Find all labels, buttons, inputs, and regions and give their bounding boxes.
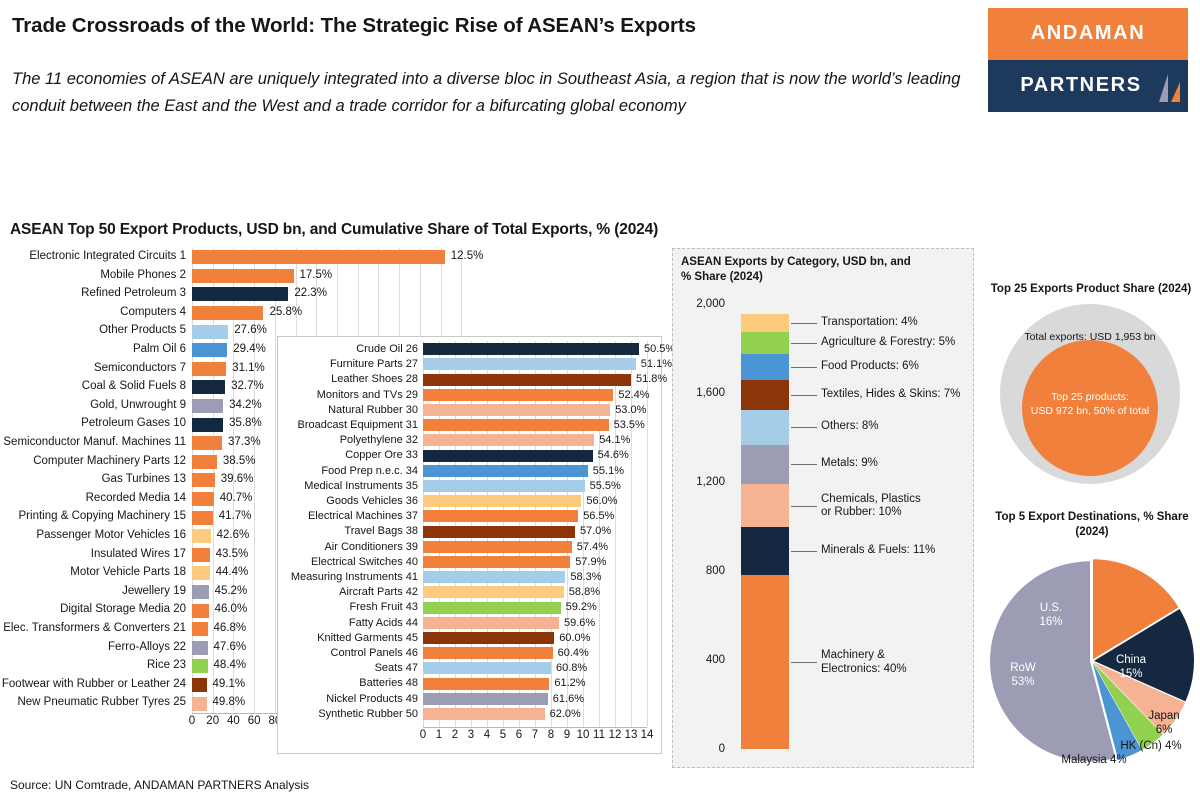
- pie-slice-label: HK (Cn) 4%: [1106, 739, 1196, 753]
- stacked-segment-label: Chemicals, Plasticsor Rubber: 10%: [821, 493, 921, 520]
- bar-category-label: Seats 47: [278, 662, 418, 674]
- table-row: Control Panels 4660.4%: [278, 646, 663, 661]
- bar-segment: [423, 556, 570, 568]
- bar-category-label: Monitors and TVs 29: [278, 389, 418, 401]
- table-row: Polyethylene 3254.1%: [278, 433, 663, 448]
- bar-category-label: Semiconductor Manuf. Machines 11: [0, 436, 186, 448]
- cumulative-share-label: 57.9%: [575, 556, 606, 568]
- bar-segment: [192, 325, 228, 339]
- x-axis-tick: 8: [548, 729, 554, 741]
- bar-segment: [423, 343, 639, 355]
- stacked-chart-y-axis: 04008001,2001,6002,000: [677, 249, 725, 767]
- bar-segment: [423, 465, 588, 477]
- table-row: Synthetic Rubber 5062.0%: [278, 707, 663, 722]
- x-axis-tick: 14: [641, 729, 654, 741]
- x-axis-tick: 7: [532, 729, 538, 741]
- bar-segment: [192, 641, 208, 655]
- cumulative-share-label: 54.1%: [599, 434, 630, 446]
- bar-category-label: Furniture Parts 27: [278, 358, 418, 370]
- logo-bottom-block: PARTNERS: [988, 60, 1188, 112]
- bar-segment: [192, 362, 226, 376]
- cumulative-share-label: 60.8%: [556, 662, 587, 674]
- bar-segment: [192, 380, 225, 394]
- table-row: Measuring Instruments 4158.3%: [278, 570, 663, 585]
- cumulative-share-label: 56.5%: [583, 510, 614, 522]
- leader-line: [791, 551, 817, 552]
- cumulative-share-label: 61.6%: [553, 693, 584, 705]
- cumulative-share-label: 39.6%: [221, 473, 254, 485]
- bar-segment: [423, 541, 572, 553]
- bar-segment: [192, 659, 208, 673]
- table-row: Natural Rubber 3053.0%: [278, 403, 663, 418]
- bar-segment: [423, 495, 581, 507]
- bar-category-label: Broadcast Equipment 31: [278, 419, 418, 431]
- bar-category-label: Control Panels 46: [278, 647, 418, 659]
- bar-category-label: Air Conditioners 39: [278, 541, 418, 553]
- cumulative-share-label: 37.3%: [228, 436, 261, 448]
- y-axis-tick: 0: [719, 743, 725, 755]
- bar-category-label: Recorded Media 14: [0, 492, 186, 504]
- cumulative-share-label: 53.0%: [615, 404, 646, 416]
- cumulative-share-label: 58.3%: [570, 571, 601, 583]
- table-row: Electronic Integrated Circuits 112.5%: [0, 248, 660, 267]
- logo-top-block: ANDAMAN: [988, 8, 1188, 60]
- bar-segment: [423, 358, 636, 370]
- logo-andaman-text: ANDAMAN: [988, 22, 1188, 45]
- x-axis-tick: 2: [452, 729, 458, 741]
- pie-slice-label: RoW53%: [992, 661, 1054, 689]
- bar-segment: [423, 450, 593, 462]
- destinations-pie-chart: U.S.16%China15%Japan6%HK (Cn) 4%Malaysia…: [986, 543, 1198, 769]
- bar-segment: [192, 436, 222, 450]
- cumulative-share-label: 61.2%: [554, 677, 585, 689]
- pie-slice-label: China15%: [1096, 653, 1166, 681]
- bar-category-label: Motor Vehicle Parts 18: [0, 566, 186, 578]
- top25-share-title: Top 25 Exports Product Share (2024): [988, 283, 1194, 295]
- bar-segment: [423, 526, 575, 538]
- table-row: Seats 4760.8%: [278, 661, 663, 676]
- company-logo: ANDAMAN PARTNERS: [988, 8, 1188, 112]
- main-chart-title: ASEAN Top 50 Export Products, USD bn, an…: [10, 221, 658, 239]
- x-axis-tick: 12: [609, 729, 622, 741]
- y-axis-tick: 800: [706, 565, 725, 577]
- stacked-segment-label: Transportation: 4%: [821, 316, 918, 330]
- cumulative-share-label: 34.2%: [229, 399, 262, 411]
- bar-category-label: Gas Turbines 13: [0, 473, 186, 485]
- bar-category-label: Ferro-Alloys 22: [0, 641, 186, 653]
- bar-segment: [423, 647, 553, 659]
- bar-category-label: Petroleum Gases 10: [0, 417, 186, 429]
- bar-category-label: Measuring Instruments 41: [278, 571, 418, 583]
- bar-segment: [192, 473, 215, 487]
- table-row: Mobile Phones 217.5%: [0, 267, 660, 286]
- stacked-segment: [741, 527, 789, 575]
- cumulative-share-label: 41.7%: [219, 510, 252, 522]
- cumulative-share-label: 52.4%: [618, 389, 649, 401]
- bar-segment: [192, 287, 288, 301]
- bar-segment: [423, 419, 609, 431]
- cumulative-share-label: 49.8%: [213, 696, 246, 708]
- top25-label-line1: Top 25 products:: [992, 390, 1188, 404]
- y-axis-tick: 1,600: [696, 387, 725, 399]
- bar-segment: [423, 632, 554, 644]
- stacked-segment-label: Metals: 9%: [821, 457, 878, 471]
- inset-bar-chart: Crude Oil 2650.5%Furniture Parts 2751.1%…: [277, 336, 662, 754]
- cumulative-share-label: 60.0%: [559, 632, 590, 644]
- bar-category-label: Refined Petroleum 3: [0, 287, 186, 299]
- stacked-segment: [741, 332, 789, 354]
- cumulative-share-label: 51.1%: [641, 358, 672, 370]
- bar-segment: [192, 678, 207, 692]
- bar-category-label: Travel Bags 38: [278, 525, 418, 537]
- bar-segment: [192, 343, 227, 357]
- y-axis-tick: 400: [706, 654, 725, 666]
- bar-category-label: Elec. Transformers & Converters 21: [0, 622, 186, 634]
- leader-line: [791, 343, 817, 344]
- stacked-segment: [741, 410, 789, 445]
- table-row: Crude Oil 2650.5%: [278, 342, 663, 357]
- table-row: Aircraft Parts 4258.8%: [278, 585, 663, 600]
- table-row: Travel Bags 3857.0%: [278, 524, 663, 539]
- stacked-segment-label: Machinery &Electronics: 40%: [821, 649, 907, 676]
- bar-segment: [423, 662, 551, 674]
- cumulative-share-label: 17.5%: [300, 269, 333, 281]
- bar-segment: [192, 529, 211, 543]
- bar-category-label: Passenger Motor Vehicles 16: [0, 529, 186, 541]
- table-row: Fresh Fruit 4359.2%: [278, 600, 663, 615]
- bar-segment: [423, 404, 610, 416]
- bar-segment: [423, 510, 578, 522]
- bar-category-label: Fatty Acids 44: [278, 617, 418, 629]
- destinations-pie-title: Top 5 Export Destinations, % Share (2024…: [986, 510, 1198, 540]
- x-axis-tick: 20: [206, 715, 219, 727]
- stacked-segment: [741, 380, 789, 410]
- exports-by-category-panel: ASEAN Exports by Category, USD bn, and %…: [672, 248, 974, 768]
- bar-category-label: Computers 4: [0, 306, 186, 318]
- top25-label-line2: USD 972 bn, 50% of total: [992, 404, 1188, 418]
- bar-segment: [423, 389, 613, 401]
- cumulative-share-label: 51.8%: [636, 373, 667, 385]
- cumulative-share-label: 35.8%: [229, 417, 262, 429]
- pie-slice-label: U.S.16%: [1016, 601, 1086, 629]
- cumulative-share-label: 38.5%: [223, 455, 256, 467]
- bar-segment: [423, 586, 564, 598]
- bar-category-label: Computer Machinery Parts 12: [0, 455, 186, 467]
- bar-segment: [192, 399, 223, 413]
- bar-category-label: Footwear with Rubber or Leather 24: [0, 678, 186, 690]
- bar-category-label: Mobile Phones 2: [0, 269, 186, 281]
- bar-segment: [192, 492, 214, 506]
- bar-category-label: Natural Rubber 30: [278, 404, 418, 416]
- bar-segment: [423, 678, 549, 690]
- stacked-segment: [741, 445, 789, 484]
- cumulative-share-label: 57.4%: [577, 541, 608, 553]
- bar-segment: [423, 480, 585, 492]
- leader-line: [791, 662, 817, 663]
- stacked-segment: [741, 484, 789, 527]
- cumulative-share-label: 48.4%: [214, 659, 247, 671]
- x-axis-tick: 0: [189, 715, 195, 727]
- table-row: Air Conditioners 3957.4%: [278, 540, 663, 555]
- leader-line: [791, 464, 817, 465]
- bar-category-label: Nickel Products 49: [278, 693, 418, 705]
- cumulative-share-label: 42.6%: [217, 529, 250, 541]
- inset-chart-axis-line: [423, 727, 647, 728]
- table-row: Batteries 4861.2%: [278, 676, 663, 691]
- cumulative-share-label: 43.5%: [216, 548, 249, 560]
- bar-category-label: Fresh Fruit 43: [278, 601, 418, 613]
- x-axis-tick: 5: [500, 729, 506, 741]
- cumulative-share-label: 55.5%: [590, 480, 621, 492]
- total-exports-label: Total exports: USD 1,953 bn: [992, 331, 1188, 343]
- bar-segment: [423, 708, 545, 720]
- bar-category-label: Coal & Solid Fuels 8: [0, 380, 186, 392]
- x-axis-tick: 1: [436, 729, 442, 741]
- leader-line: [791, 367, 817, 368]
- table-row: Fatty Acids 4459.6%: [278, 616, 663, 631]
- cumulative-share-label: 12.5%: [451, 250, 484, 262]
- cumulative-share-label: 40.7%: [220, 492, 253, 504]
- x-axis-tick: 60: [248, 715, 261, 727]
- cumulative-share-label: 44.4%: [216, 566, 249, 578]
- bar-segment: [192, 604, 209, 618]
- bar-category-label: Goods Vehicles 36: [278, 495, 418, 507]
- bar-segment: [423, 602, 561, 614]
- cumulative-share-label: 49.1%: [213, 678, 246, 690]
- bar-category-label: Electrical Machines 37: [278, 510, 418, 522]
- x-axis-tick: 4: [484, 729, 490, 741]
- cumulative-share-label: 29.4%: [233, 343, 266, 355]
- pie-slice-label: Japan6%: [1134, 709, 1194, 737]
- bar-category-label: Synthetic Rubber 50: [278, 708, 418, 720]
- stacked-segment-label: Textiles, Hides & Skins: 7%: [821, 388, 960, 402]
- y-axis-tick: 1,200: [696, 476, 725, 488]
- bar-category-label: Copper Ore 33: [278, 449, 418, 461]
- x-axis-tick: 0: [420, 729, 426, 741]
- x-axis-tick: 6: [516, 729, 522, 741]
- bar-segment: [192, 697, 207, 711]
- bar-segment: [192, 269, 294, 283]
- cumulative-share-label: 31.1%: [232, 362, 265, 374]
- cumulative-share-label: 46.8%: [214, 622, 247, 634]
- bar-segment: [423, 374, 631, 386]
- bar-segment: [192, 418, 223, 432]
- table-row: Furniture Parts 2751.1%: [278, 357, 663, 372]
- cumulative-share-label: 53.5%: [614, 419, 645, 431]
- bar-category-label: Other Products 5: [0, 324, 186, 336]
- sail-icon: [1158, 72, 1182, 108]
- table-row: Monitors and TVs 2952.4%: [278, 388, 663, 403]
- top25-products-label: Top 25 products: USD 972 bn, 50% of tota…: [992, 390, 1188, 418]
- page-title: Trade Crossroads of the World: The Strat…: [12, 14, 972, 38]
- stacked-segment-label: Others: 8%: [821, 420, 879, 434]
- stacked-column: [741, 314, 789, 749]
- bar-category-label: Electrical Switches 40: [278, 556, 418, 568]
- bar-segment: [192, 306, 263, 320]
- bar-segment: [423, 617, 559, 629]
- leader-line: [791, 395, 817, 396]
- table-row: Electrical Machines 3756.5%: [278, 509, 663, 524]
- cumulative-share-label: 59.6%: [564, 617, 595, 629]
- bar-category-label: Rice 23: [0, 659, 186, 671]
- cumulative-share-label: 22.3%: [294, 287, 327, 299]
- table-row: Computers 425.8%: [0, 304, 660, 323]
- source-note: Source: UN Comtrade, ANDAMAN PARTNERS An…: [10, 778, 309, 792]
- bar-segment: [192, 566, 210, 580]
- bar-category-label: Palm Oil 6: [0, 343, 186, 355]
- x-axis-tick: 10: [577, 729, 590, 741]
- bar-segment: [423, 693, 548, 705]
- bar-category-label: Digital Storage Media 20: [0, 603, 186, 615]
- table-row: Refined Petroleum 322.3%: [0, 285, 660, 304]
- bar-category-label: Medical Instruments 35: [278, 480, 418, 492]
- table-row: Goods Vehicles 3656.0%: [278, 494, 663, 509]
- page-subtitle: The 11 economies of ASEAN are uniquely i…: [12, 66, 972, 120]
- cumulative-share-label: 27.6%: [234, 324, 267, 336]
- stacked-segment-label: Food Products: 6%: [821, 360, 919, 374]
- cumulative-share-label: 25.8%: [269, 306, 302, 318]
- cumulative-share-label: 47.6%: [214, 641, 247, 653]
- stacked-segment: [741, 575, 789, 749]
- table-row: Knitted Garments 4560.0%: [278, 631, 663, 646]
- x-axis-tick: 13: [625, 729, 638, 741]
- stacked-segment: [741, 314, 789, 331]
- bar-segment: [192, 585, 209, 599]
- cumulative-share-label: 62.0%: [550, 708, 581, 720]
- stacked-segment-label: Minerals & Fuels: 11%: [821, 544, 935, 558]
- bar-segment: [192, 455, 217, 469]
- cumulative-share-label: 57.0%: [580, 525, 611, 537]
- table-row: Nickel Products 4961.6%: [278, 692, 663, 707]
- table-row: Copper Ore 3354.6%: [278, 448, 663, 463]
- leader-line: [791, 506, 817, 507]
- bar-segment: [192, 511, 213, 525]
- y-axis-tick: 2,000: [696, 298, 725, 310]
- cumulative-share-label: 54.6%: [598, 449, 629, 461]
- bar-segment: [423, 571, 565, 583]
- bar-category-label: Electronic Integrated Circuits 1: [0, 250, 186, 262]
- pie-slice-label: Malaysia 4%: [1046, 753, 1142, 767]
- x-axis-tick: 40: [227, 715, 240, 727]
- bar-segment: [423, 434, 594, 446]
- bar-category-label: Batteries 48: [278, 677, 418, 689]
- inset-chart-x-axis: 01234567891011121314: [423, 729, 663, 747]
- bar-category-label: New Pneumatic Rubber Tyres 25: [0, 696, 186, 708]
- bar-category-label: Crude Oil 26: [278, 343, 418, 355]
- bar-category-label: Semiconductors 7: [0, 362, 186, 374]
- cumulative-share-label: 59.2%: [566, 601, 597, 613]
- cumulative-share-label: 45.2%: [215, 585, 248, 597]
- x-axis-tick: 11: [593, 729, 605, 741]
- bar-category-label: Gold, Unwrought 9: [0, 399, 186, 411]
- bar-category-label: Knitted Garments 45: [278, 632, 418, 644]
- bar-category-label: Polyethylene 32: [278, 434, 418, 446]
- bar-category-label: Printing & Copying Machinery 15: [0, 510, 186, 522]
- table-row: Electrical Switches 4057.9%: [278, 555, 663, 570]
- table-row: Medical Instruments 3555.5%: [278, 479, 663, 494]
- leader-line: [791, 427, 817, 428]
- table-row: Broadcast Equipment 3153.5%: [278, 418, 663, 433]
- cumulative-share-label: 56.0%: [586, 495, 617, 507]
- table-row: Leather Shoes 2851.8%: [278, 372, 663, 387]
- leader-line: [791, 323, 817, 324]
- table-row: Food Prep n.e.c. 3455.1%: [278, 464, 663, 479]
- bar-category-label: Leather Shoes 28: [278, 373, 418, 385]
- x-axis-tick: 9: [564, 729, 570, 741]
- bar-category-label: Food Prep n.e.c. 34: [278, 465, 418, 477]
- x-axis-tick: 3: [468, 729, 474, 741]
- stacked-segment-label: Agriculture & Forestry: 5%: [821, 336, 955, 350]
- bar-category-label: Jewellery 19: [0, 585, 186, 597]
- bar-segment: [192, 622, 208, 636]
- cumulative-share-label: 60.4%: [558, 647, 589, 659]
- cumulative-share-label: 32.7%: [231, 380, 264, 392]
- bar-category-label: Aircraft Parts 42: [278, 586, 418, 598]
- cumulative-share-label: 58.8%: [569, 586, 600, 598]
- cumulative-share-label: 50.5%: [644, 343, 675, 355]
- bar-segment: [192, 250, 445, 264]
- stacked-segment: [741, 354, 789, 380]
- bar-segment: [192, 548, 210, 562]
- cumulative-share-label: 46.0%: [215, 603, 248, 615]
- bar-category-label: Insulated Wires 17: [0, 548, 186, 560]
- cumulative-share-label: 55.1%: [593, 465, 624, 477]
